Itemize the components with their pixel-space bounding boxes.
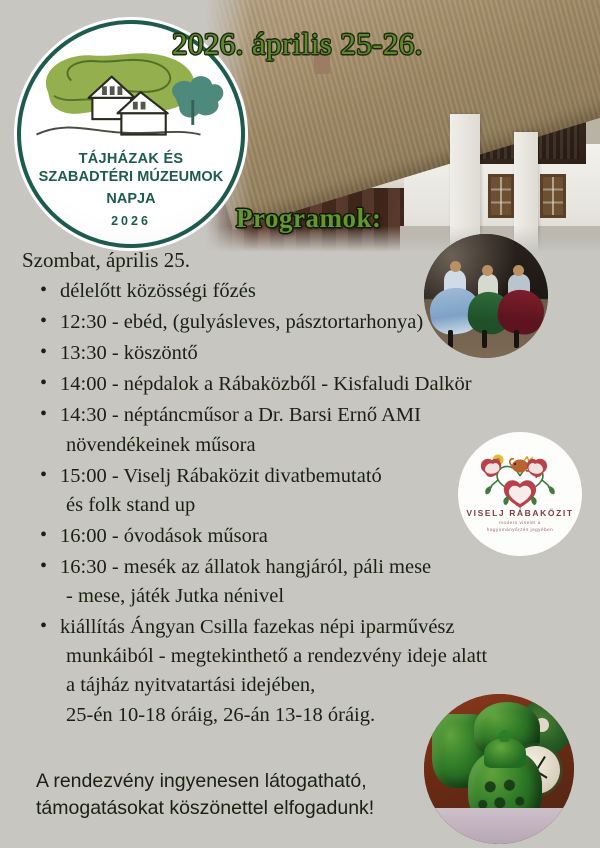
viselj-subtitle-line-2: hagyományőrzés jegyében [487, 527, 553, 532]
date-heading: 2026. április 25-26. [172, 26, 423, 62]
folk-dancers-photo [424, 234, 548, 358]
program-text: 14:00 - népdalok a Rábaközből - Kisfalud… [60, 373, 472, 395]
program-text-cont: - mese, játék Jutka nénivel [60, 582, 580, 611]
viselj-subtitle-line-1: modern viselet a [499, 520, 541, 525]
program-text: 16:30 - mesék az állatok hangjáról, páli… [60, 556, 431, 578]
program-text: 15:00 - Viselj Rábaközit divatbemutató [60, 465, 382, 487]
pottery-lid [484, 738, 526, 768]
closing-line-2: támogatásokat köszönettel elfogadunk! [36, 795, 476, 822]
photo-window-right [540, 174, 566, 218]
dancer-head [450, 261, 461, 272]
dancer-legs [514, 330, 519, 348]
green-pottery-photo [424, 694, 574, 844]
folk-motif-icon [458, 446, 582, 508]
program-text-cont: munkáiból - megtekinthető a rendezvény i… [60, 642, 580, 671]
list-item: 14:00 - népdalok a Rábaközből - Kisfalud… [34, 370, 580, 399]
photo-window-left [488, 174, 514, 218]
day-label: Szombat, április 25. [22, 248, 190, 273]
viselj-title: VISELJ RÁBAKÖZIT [458, 508, 582, 518]
dancer-head [513, 265, 524, 276]
program-text: 12:30 - ebéd, (gulyásleves, pásztortarho… [60, 311, 423, 333]
pottery-cloth [424, 808, 574, 844]
program-text: 13:30 - köszöntő [60, 342, 198, 364]
program-text: délelőtt közösségi főzés [60, 280, 256, 302]
closing-line-1: A rendezvény ingyenesen látogatható, [36, 768, 476, 795]
badge-text-block: TÁJHÁZAK ÉS SZABADTÉRI MÚZEUMOK NAPJA 20… [21, 150, 241, 228]
program-text: 14:30 - néptáncműsor a Dr. Barsi Ernő AM… [60, 404, 421, 426]
event-poster: 2026. április 25-26. TÁJHÁZAK ÉS SZABADT… [0, 0, 600, 848]
viselj-subtitle: modern viselet a hagyományőrzés jegyében [458, 520, 582, 534]
badge-line-3: NAPJA [21, 186, 241, 214]
badge-line-1: TÁJHÁZAK ÉS [21, 150, 241, 168]
dancer-head [482, 265, 493, 276]
dancer-legs [482, 330, 487, 348]
dancer-legs [448, 330, 453, 348]
badge-year: 2026 [21, 214, 241, 228]
program-text: kiállítás Ángyan Csilla fazekas népi ipa… [60, 616, 455, 638]
badge-line-2: SZABADTÉRI MÚZEUMOK [21, 168, 241, 186]
program-text: 16:00 - óvodások műsora [60, 525, 268, 547]
list-item: 16:30 - mesék az állatok hangjáról, páli… [34, 553, 580, 611]
programs-heading: Programok: [236, 203, 381, 234]
pottery-knob [499, 730, 510, 742]
viselj-rabakozit-logo: VISELJ RÁBAKÖZIT modern viselet a hagyom… [458, 432, 582, 556]
closing-message: A rendezvény ingyenesen látogatható, tám… [36, 768, 476, 822]
